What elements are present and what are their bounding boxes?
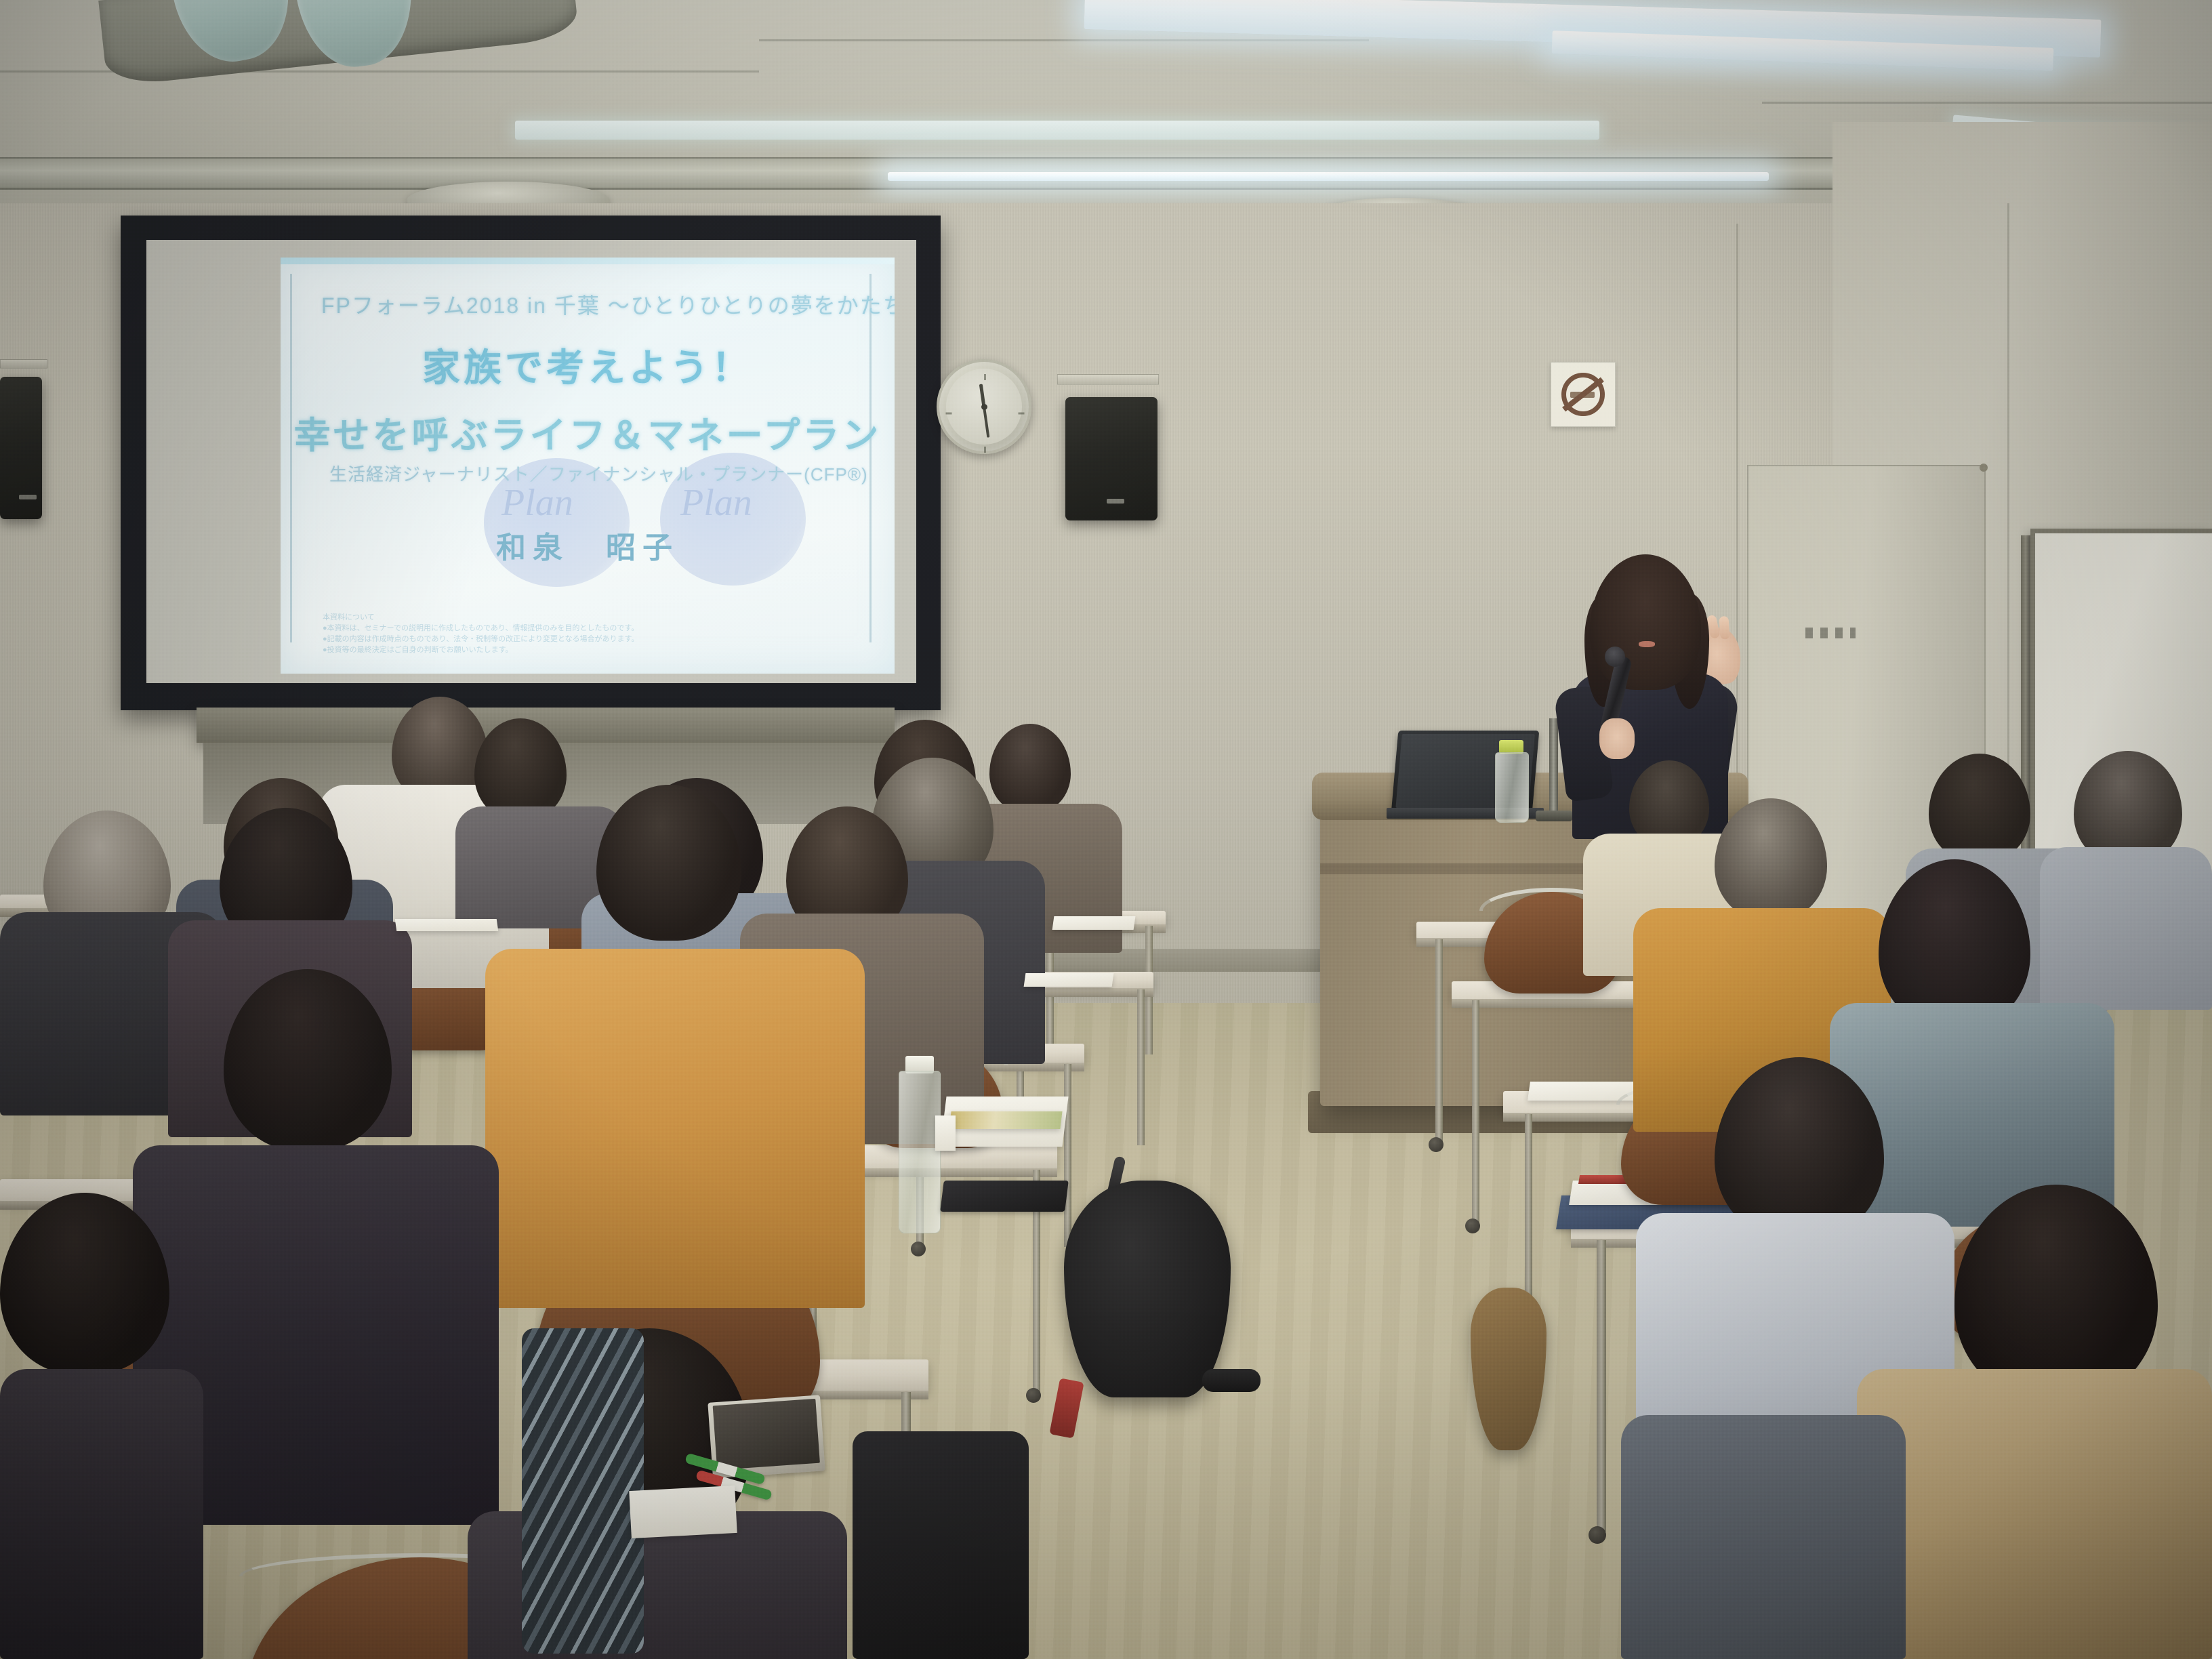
desk-caster	[1589, 1526, 1606, 1544]
clock-tick	[984, 374, 986, 380]
audience-torso	[1621, 1415, 1906, 1659]
slide-title-line2: 幸せを呼ぶライフ＆マネープラン	[281, 405, 895, 459]
audience-torso	[0, 1369, 203, 1659]
no-smoking-sign	[1551, 362, 1616, 427]
slide-top-bar	[281, 258, 895, 264]
desk-caster	[1429, 1137, 1443, 1152]
wall-speaker-left	[0, 377, 42, 519]
bottle-cap	[1499, 740, 1523, 754]
desk-leg	[1472, 1000, 1479, 1224]
handout-papers	[1024, 973, 1114, 987]
presenter-hair	[1590, 554, 1701, 690]
clock-face	[946, 369, 1022, 445]
ceiling-panel-line	[1762, 102, 2212, 104]
slide-footnote-line: ●記載の内容は作成時点のものであり、法令・税制等の改正により変更となる場合があり…	[323, 634, 854, 645]
dark-bag	[853, 1431, 1029, 1659]
handout-papers	[629, 1486, 737, 1538]
clock-tick	[984, 447, 986, 453]
slide-title-line1: 家族で考えよう！	[281, 337, 895, 392]
backpack-base	[1202, 1369, 1261, 1392]
clock-minute-hand	[983, 407, 989, 438]
desk-caster	[1026, 1388, 1041, 1403]
slide-footnote-line: ●本資料は、セミナーでの説明用に作成したものであり、情報提供のみを目的としたもの…	[323, 623, 854, 634]
water-bottle-desk	[899, 1071, 941, 1233]
clock-tick	[1019, 413, 1025, 415]
slide-ghost-word-left: Plan	[501, 481, 573, 525]
brochure	[949, 1111, 1062, 1129]
desk-caster	[1465, 1218, 1480, 1233]
ceiling-fluorescent-light	[515, 121, 1599, 140]
audience-torso	[1857, 1369, 2212, 1659]
slide-speaker-name: 和泉 昭子	[281, 523, 895, 567]
backpack	[1064, 1181, 1231, 1397]
slide-ghost-word-right: Plan	[680, 481, 752, 525]
clock-center-pin	[981, 404, 987, 410]
presenter-mouth	[1639, 641, 1655, 647]
phone-on-desk	[940, 1181, 1069, 1212]
ceiling-fluorescent-light	[888, 172, 1769, 181]
desk-leg	[1064, 1064, 1071, 1247]
wall-speaker-right	[1065, 397, 1158, 520]
slide: FPフォーラム2018 in 千葉 ～ひとりひとりの夢をかたちに～ 家族で考えよ…	[281, 258, 895, 674]
smartphone-screen	[713, 1399, 820, 1470]
wall-clock	[937, 359, 1031, 454]
door-hinge	[1980, 464, 1988, 472]
slide-kicker: FPフォーラム2018 in 千葉 ～ひとりひとりの夢をかたちに～	[321, 289, 847, 320]
speaker-bracket	[0, 359, 47, 369]
handout-papers	[935, 1115, 956, 1151]
desk-leg	[1137, 989, 1145, 1145]
ceiling-panel-line	[759, 39, 1369, 41]
slide-footnote-line: 本資料について	[323, 613, 854, 623]
slide-footnote: 本資料について ●本資料は、セミナーでの説明用に作成したものであり、情報提供のみ…	[323, 613, 854, 656]
slide-speaker-credential: 生活経済ジャーナリスト／ファイナンシャル・プランナー(CFP®)	[329, 461, 840, 486]
slide-footnote-line: ●投資等の最終決定はご自身の判断でお願いいたします。	[323, 645, 854, 656]
desk-leg	[1597, 1240, 1606, 1532]
audience-torso	[485, 949, 865, 1308]
water-bottle-podium	[1495, 752, 1529, 823]
finger	[1719, 616, 1729, 640]
door-sign	[1805, 628, 1856, 638]
audience-torso	[2040, 847, 2212, 1010]
desk-caster	[911, 1242, 926, 1256]
projection-screen: FPフォーラム2018 in 千葉 ～ひとりひとりの夢をかたちに～ 家族で考えよ…	[121, 216, 941, 710]
speaker-bracket	[1057, 374, 1159, 385]
handout-papers	[1052, 916, 1136, 930]
audience-torso-plaid	[522, 1328, 644, 1654]
handout-papers	[395, 919, 499, 931]
photo-scene: FPフォーラム2018 in 千葉 ～ひとりひとりの夢をかたちに～ 家族で考えよ…	[0, 0, 2212, 1659]
clock-tick	[946, 413, 952, 415]
projection-screen-surface: FPフォーラム2018 in 千葉 ～ひとりひとりの夢をかたちに～ 家族で考えよ…	[146, 240, 916, 683]
presenter-mic-hand	[1599, 718, 1635, 759]
desk-leg	[1435, 939, 1443, 1143]
